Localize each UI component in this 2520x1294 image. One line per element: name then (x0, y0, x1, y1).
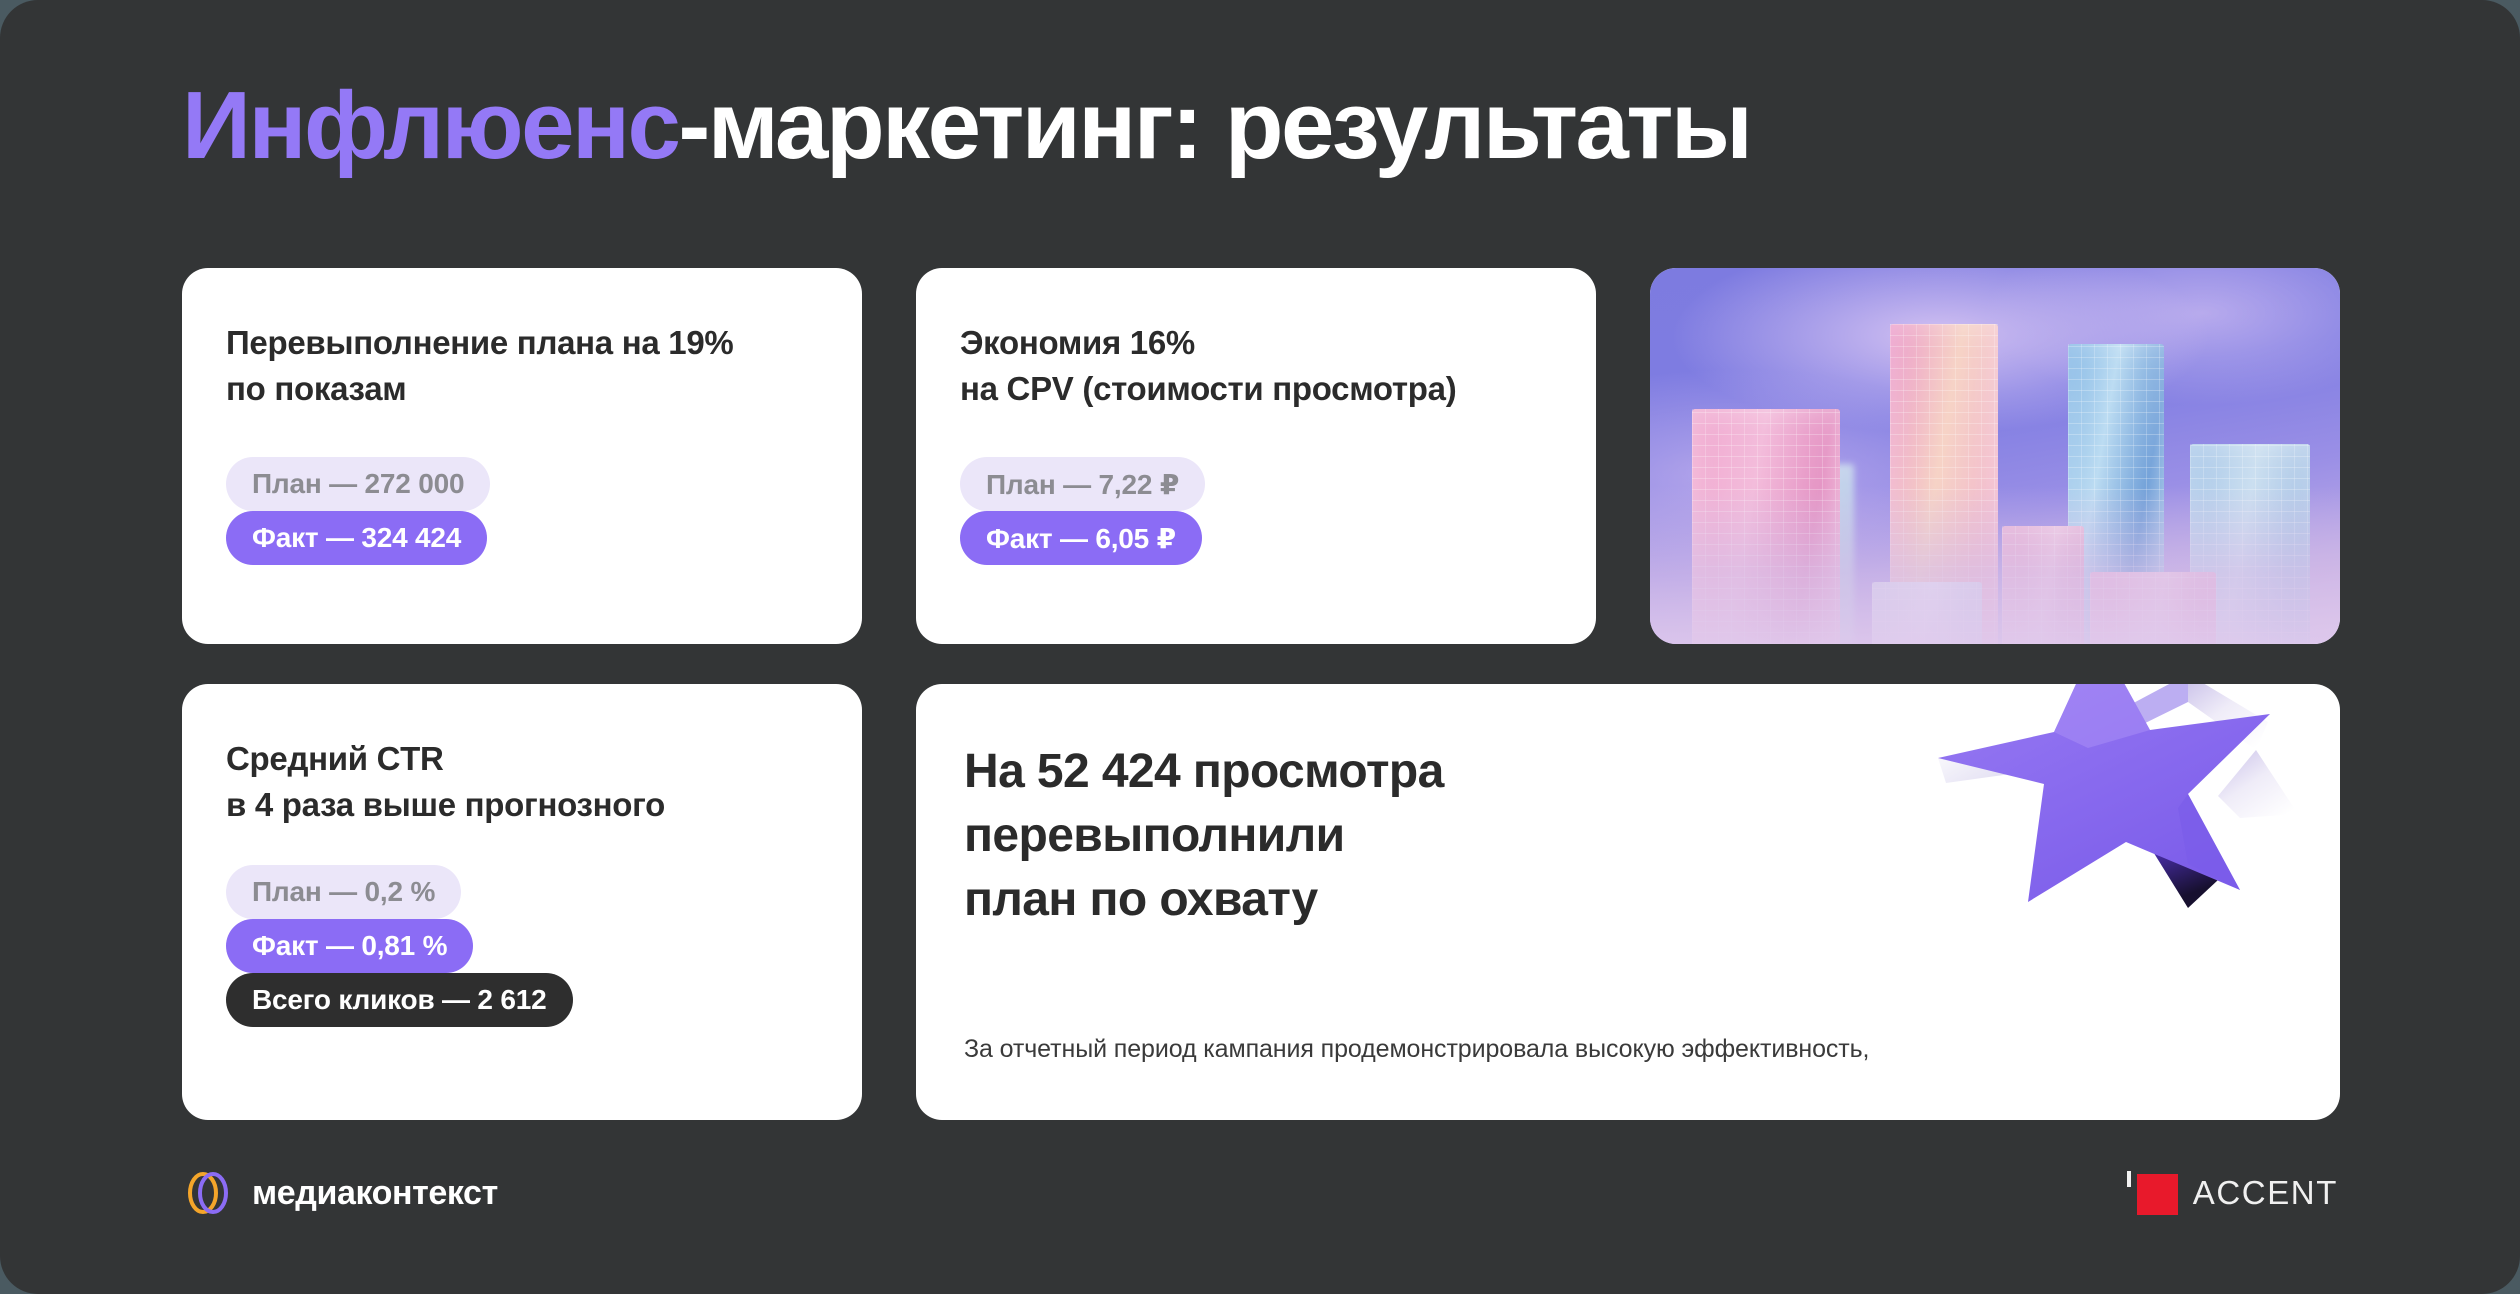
card-row-top: Перевыполнение плана на 19% по показам П… (182, 268, 2340, 644)
card-cpv-badges: План — 7,22 ₽ Факт — 6,05 ₽ (960, 457, 1552, 565)
badge-wrap: План — 272 000 (226, 457, 818, 511)
badge-wrap: Факт — 324 424 (226, 511, 818, 565)
badge-fact-impressions: Факт — 324 424 (226, 511, 487, 565)
slide-root: Инфлюенс-маркетинг: результаты Перевыпол… (0, 0, 2520, 1294)
logo-accent-label: ACCENT (2193, 1174, 2338, 1212)
logo-mediakontekst-label: медиаконтекст (252, 1174, 498, 1213)
rings-logo-icon (182, 1167, 234, 1219)
card-cpv-heading: Экономия 16% на CPV (стоимости просмотра… (960, 320, 1552, 411)
badge-wrap: Факт — 6,05 ₽ (960, 511, 1552, 565)
card-row-bottom: Средний CTR в 4 раза выше прогнозного Пл… (182, 684, 2340, 1120)
badge-wrap: Всего кликов — 2 612 (226, 973, 818, 1027)
badge-fact-ctr: Факт — 0,81 % (226, 919, 473, 973)
badge-plan-cpv: План — 7,22 ₽ (960, 457, 1205, 511)
accent-square-icon (2127, 1171, 2179, 1215)
image-haze-overlay (1650, 486, 2340, 644)
card-ctr-badges: План — 0,2 % Факт — 0,81 % Всего кликов … (226, 865, 818, 1027)
badge-wrap: План — 7,22 ₽ (960, 457, 1552, 511)
card-ctr[interactable]: Средний CTR в 4 раза выше прогнозного Пл… (182, 684, 862, 1120)
badge-plan-ctr: План — 0,2 % (226, 865, 461, 919)
crystal-city-image (1650, 268, 2340, 644)
logo-mediakontekst[interactable]: медиаконтекст (182, 1167, 498, 1219)
card-summary-caption: За отчетный период кампания продемонстри… (964, 1035, 1869, 1064)
page-title-rest: -маркетинг: результаты (678, 72, 1750, 179)
card-impressions-heading: Перевыполнение плана на 19% по показам (226, 320, 818, 411)
accent-red-square-icon (2137, 1174, 2178, 1215)
page-title: Инфлюенс-маркетинг: результаты (182, 74, 1750, 178)
logo-accent[interactable]: ACCENT (2127, 1171, 2338, 1215)
accent-tick-icon (2127, 1171, 2131, 1187)
page-title-accent: Инфлюенс (182, 72, 678, 179)
card-media-image (1650, 268, 2340, 644)
badge-fact-cpv: Факт — 6,05 ₽ (960, 511, 1202, 565)
card-impressions-badges: План — 272 000 Факт — 324 424 (226, 457, 818, 565)
footer: медиаконтекст ACCENT (182, 1166, 2338, 1220)
card-summary[interactable]: На 52 424 просмотра перевыполнили план п… (916, 684, 2340, 1120)
badge-wrap: Факт — 0,81 % (226, 919, 818, 973)
card-summary-headline: На 52 424 просмотра перевыполнили план п… (964, 740, 2292, 931)
card-ctr-heading: Средний CTR в 4 раза выше прогнозного (226, 736, 818, 827)
badge-plan-impressions: План — 272 000 (226, 457, 490, 511)
badge-wrap: План — 0,2 % (226, 865, 818, 919)
card-grid: Перевыполнение плана на 19% по показам П… (182, 268, 2340, 1120)
card-cpv[interactable]: Экономия 16% на CPV (стоимости просмотра… (916, 268, 1596, 644)
card-impressions[interactable]: Перевыполнение плана на 19% по показам П… (182, 268, 862, 644)
badge-total-clicks: Всего кликов — 2 612 (226, 973, 573, 1027)
